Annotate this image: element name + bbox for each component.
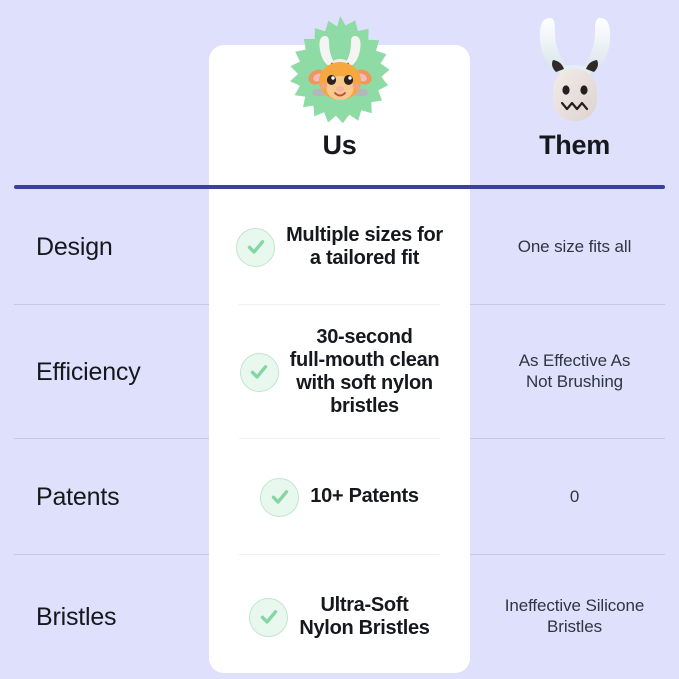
giraffe-starburst-badge-icon <box>285 14 395 124</box>
us-value-line: full-mouth clean <box>290 349 440 372</box>
them-value-line: One size fits all <box>518 237 632 258</box>
them-value-line: As Effective As <box>519 351 631 372</box>
us-value-line: Multiple sizes for <box>286 224 443 247</box>
us-value-line: 30-second <box>290 326 440 349</box>
us-value-text: Multiple sizes fora tailored fit <box>286 224 443 270</box>
us-value-cell: 30-secondfull-mouth cleanwith soft nylon… <box>209 305 470 439</box>
feature-label: Design <box>36 233 113 262</box>
feature-label: Patents <box>36 483 119 512</box>
feature-label-cell: Design <box>0 189 209 305</box>
table-row: Efficiency30-secondfull-mouth cleanwith … <box>0 305 679 439</box>
check-circle-icon <box>240 353 279 392</box>
us-value-line: Nylon Bristles <box>299 617 429 640</box>
feature-label-cell: Bristles <box>0 555 209 679</box>
us-value-line: bristles <box>290 395 440 418</box>
them-value-line: Not Brushing <box>519 372 631 393</box>
header-label-us: Us <box>209 132 470 159</box>
them-value-cell: 0 <box>470 439 679 555</box>
them-value-line: Bristles <box>505 617 644 638</box>
us-product-art <box>209 8 470 130</box>
u-shaped-panda-toothbrush-icon <box>520 14 630 124</box>
us-value-text: 30-secondfull-mouth cleanwith soft nylon… <box>290 326 440 419</box>
feature-label: Bristles <box>36 603 116 632</box>
them-value-cell: As Effective AsNot Brushing <box>470 305 679 439</box>
us-value-cell: Multiple sizes fora tailored fit <box>209 189 470 305</box>
us-value-cell: 10+ Patents <box>209 439 470 555</box>
header-column-us: Us <box>209 8 470 159</box>
comparison-table: DesignMultiple sizes fora tailored fitOn… <box>0 189 679 679</box>
table-row: BristlesUltra-SoftNylon BristlesIneffect… <box>0 555 679 679</box>
check-circle-icon <box>260 478 299 517</box>
them-value-cell: One size fits all <box>470 189 679 305</box>
them-value-cell: Ineffective SiliconeBristles <box>470 555 679 679</box>
them-value-text: 0 <box>570 487 579 508</box>
us-value-text: Ultra-SoftNylon Bristles <box>299 594 429 640</box>
us-value-line: Ultra-Soft <box>299 594 429 617</box>
table-row: DesignMultiple sizes fora tailored fitOn… <box>0 189 679 305</box>
them-value-line: Ineffective Silicone <box>505 596 644 617</box>
table-row: Patents10+ Patents0 <box>0 439 679 555</box>
them-product-art <box>470 8 679 130</box>
us-value-line: a tailored fit <box>286 247 443 270</box>
header-label-them: Them <box>470 132 679 159</box>
header-divider-rule <box>14 185 665 189</box>
check-circle-icon <box>236 228 275 267</box>
feature-label-cell: Efficiency <box>0 305 209 439</box>
check-circle-icon <box>249 598 288 637</box>
header-column-them: Them <box>470 8 679 159</box>
comparison-header: Us <box>0 0 679 185</box>
us-value-text: 10+ Patents <box>310 485 418 508</box>
them-value-text: As Effective AsNot Brushing <box>519 351 631 392</box>
us-value-line: 10+ Patents <box>310 485 418 508</box>
them-value-text: Ineffective SiliconeBristles <box>505 596 644 637</box>
us-value-cell: Ultra-SoftNylon Bristles <box>209 555 470 679</box>
feature-label: Efficiency <box>36 358 141 387</box>
us-value-line: with soft nylon <box>290 372 440 395</box>
them-value-text: One size fits all <box>518 237 632 258</box>
them-value-line: 0 <box>570 487 579 508</box>
feature-label-cell: Patents <box>0 439 209 555</box>
